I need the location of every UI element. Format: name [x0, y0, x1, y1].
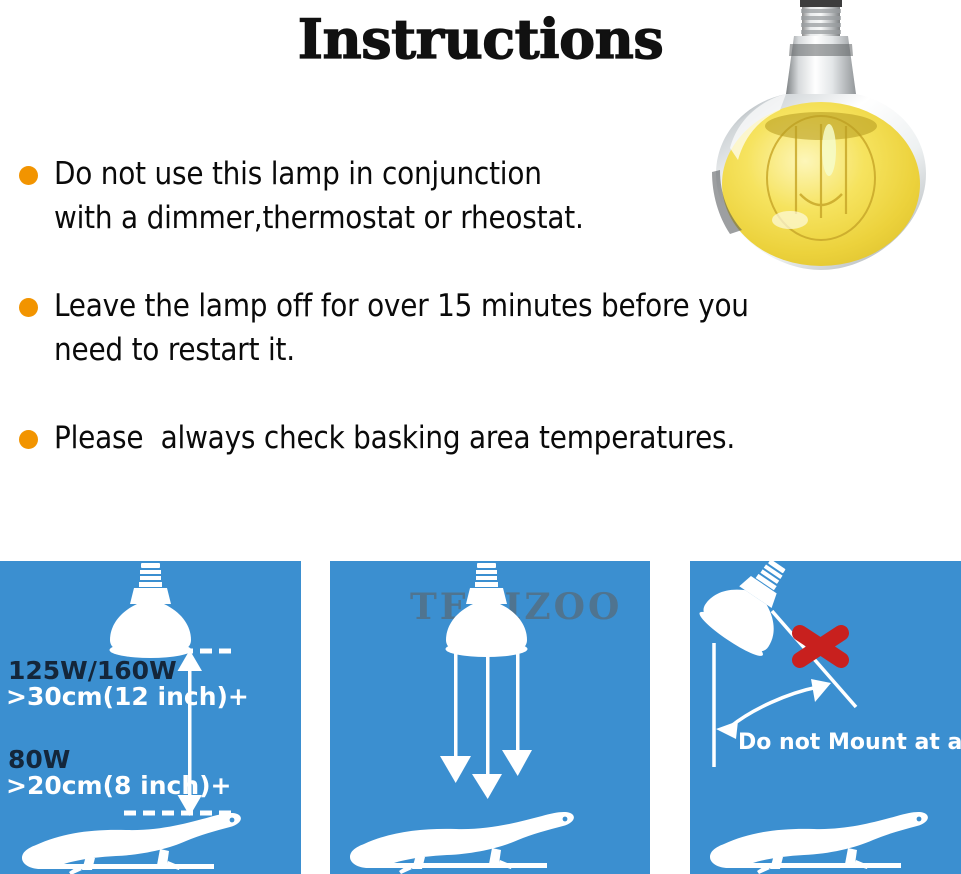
- wattage-label-2: 80W: [8, 745, 70, 774]
- red-cross-icon: [800, 633, 841, 660]
- direct-downward-mount-panel: TEKIZOO: [330, 561, 650, 874]
- instruction-text-2: Leave the lamp off for over 15 minutes b…: [54, 284, 959, 372]
- bullet-dot-icon: [19, 298, 38, 317]
- distance-label-2: >20cm(8 inch)+: [6, 771, 232, 800]
- list-item: Do not use this lamp in conjunction with…: [0, 152, 961, 240]
- instructions-page: Instructions: [0, 0, 961, 874]
- do-not-angle-panel: Do not Mount at an angle: [690, 561, 961, 874]
- lamp-screw-base: [800, 0, 842, 36]
- diagram-panels: 125W/160W >30cm(12 inch)+ 80W >20cm(8 in…: [0, 561, 961, 874]
- instruction-text-1: Do not use this lamp in conjunction with…: [54, 152, 714, 240]
- instruction-text-3: Please always check basking area tempera…: [54, 416, 959, 460]
- wattage-label-1: 125W/160W: [8, 656, 177, 685]
- panel-caption: Do not Mount at an angle: [738, 730, 961, 755]
- distance-label-1: >30cm(12 inch)+: [6, 682, 249, 711]
- bullet-dot-icon: [19, 430, 38, 449]
- mounting-height-panel: 125W/160W >30cm(12 inch)+ 80W >20cm(8 in…: [0, 561, 301, 874]
- list-item: Leave the lamp off for over 15 minutes b…: [0, 284, 961, 372]
- list-item: Please always check basking area tempera…: [0, 416, 961, 460]
- bullet-dot-icon: [19, 166, 38, 185]
- instruction-list: Do not use this lamp in conjunction with…: [0, 152, 961, 486]
